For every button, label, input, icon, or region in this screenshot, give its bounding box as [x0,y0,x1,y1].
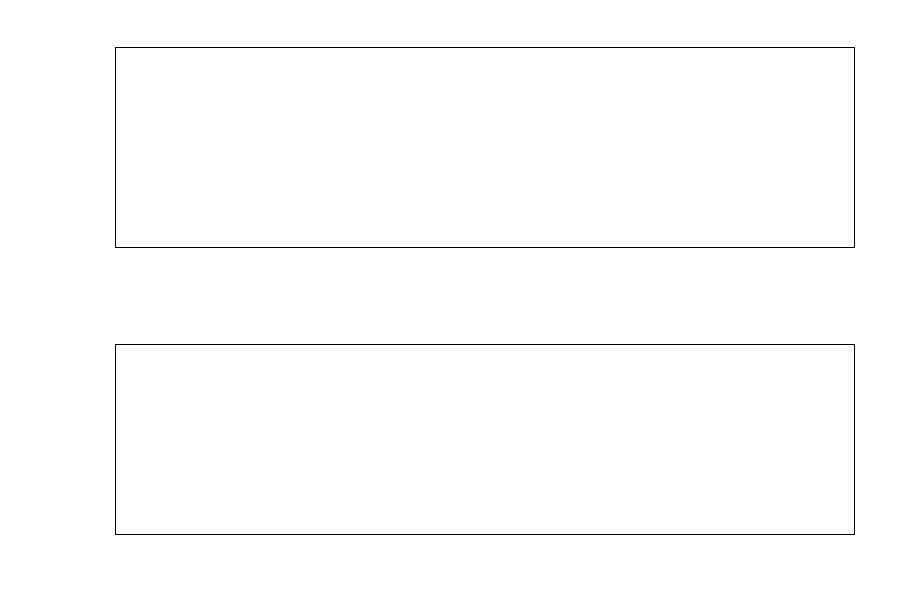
bottom-chart-axes [115,344,855,535]
top-chart-plot [116,48,856,249]
bottom-chart-plot [116,345,856,536]
top-chart-axes [115,47,855,248]
figure-canvas [0,0,900,600]
